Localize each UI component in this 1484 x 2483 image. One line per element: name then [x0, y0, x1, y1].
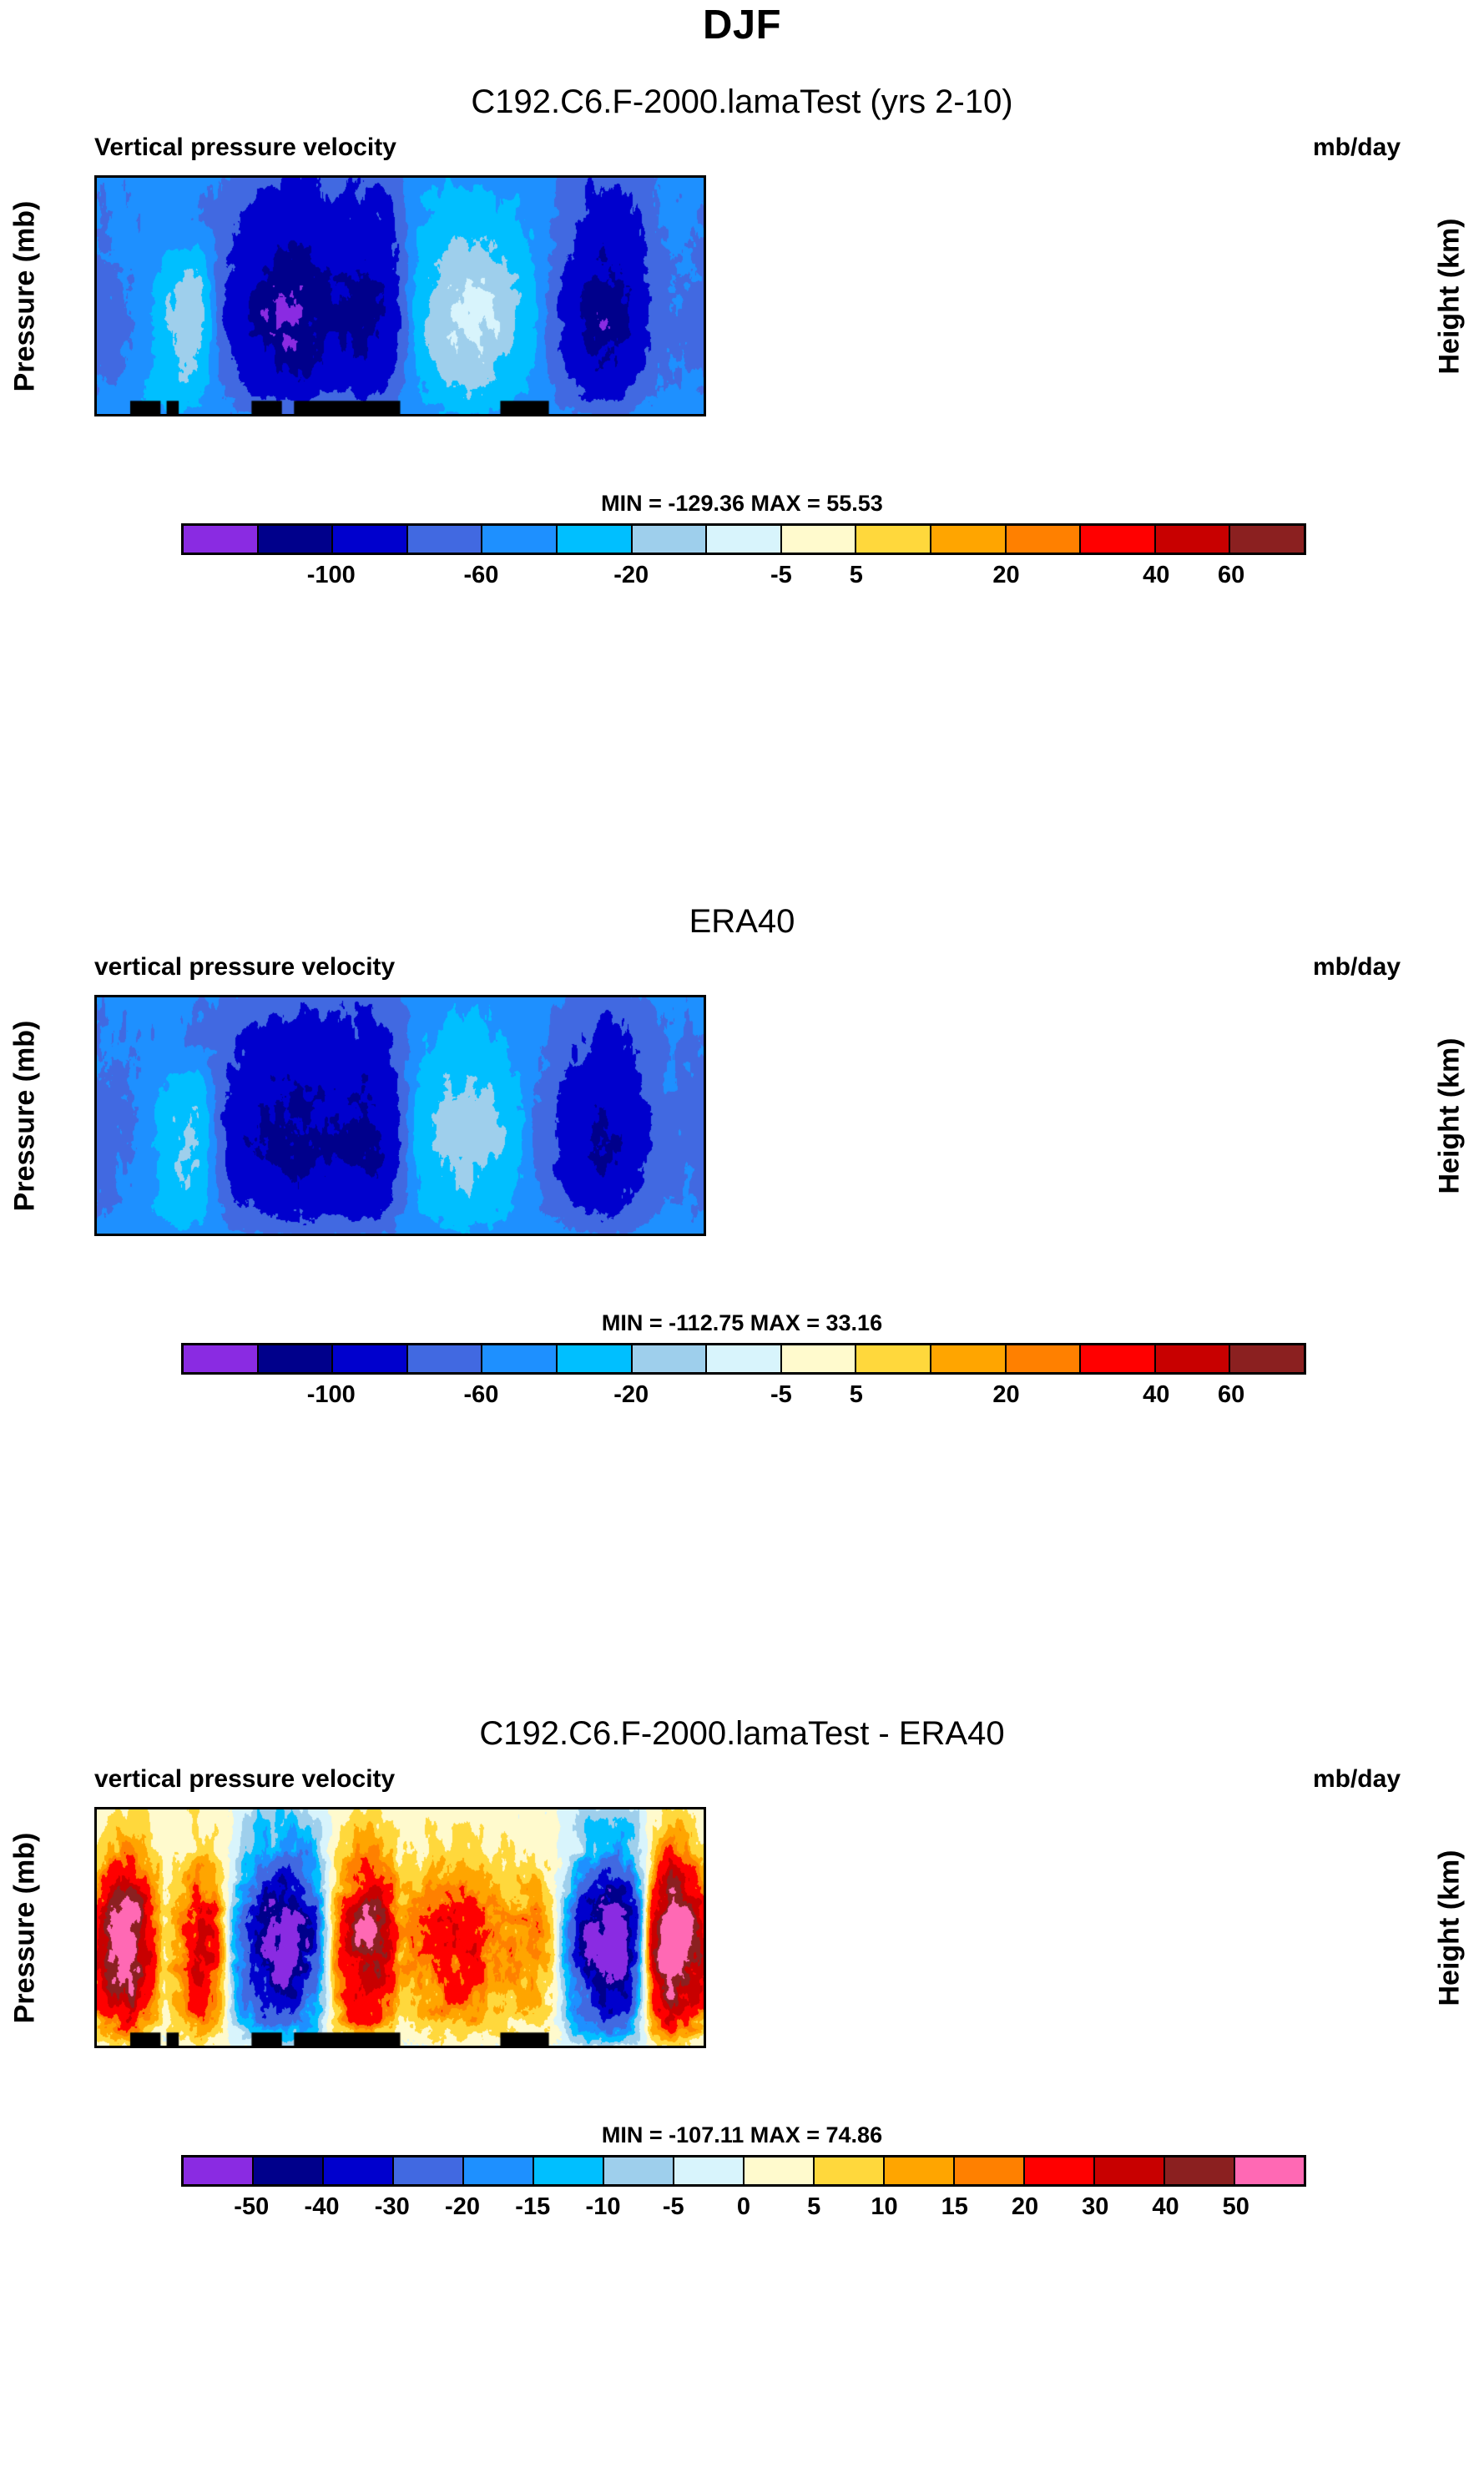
panel-subhead: vertical pressure velocity mb/day: [0, 953, 1484, 987]
y-tick-mark: [94, 1880, 97, 1883]
y-tick-mark: [94, 2046, 97, 2048]
x-minor-tick-mark: [350, 1234, 352, 1236]
colorbar-swatch: [259, 526, 334, 553]
x-tick-mark: [603, 1807, 605, 1809]
colorbar-swatch: [1165, 2157, 1235, 2184]
y2-tick-mark: [704, 1991, 706, 1994]
colorbar-swatch: [1230, 1345, 1304, 1372]
colorbar-tick-label: -100: [307, 562, 356, 589]
contour-canvas: [97, 178, 704, 414]
colorbar-tick-label: -5: [663, 2193, 684, 2221]
colorbar-tick-label: -60: [463, 562, 498, 589]
x-minor-tick-mark: [451, 414, 453, 416]
y-tick-mark: [94, 1951, 97, 1954]
y-tick-mark: [94, 220, 97, 222]
x-minor-tick-mark: [653, 175, 655, 178]
colorbar-swatch: [558, 526, 633, 553]
colorbar-swatch: [745, 2157, 815, 2184]
x-minor-tick-mark: [249, 175, 251, 178]
y2-tick-mark: [704, 198, 706, 200]
colorbar-swatch: [408, 526, 483, 553]
colorbar: -50-40-30-20-15-10-505101520304050: [0, 2155, 1484, 2223]
x-tick-mark: [502, 1807, 504, 1809]
x-tick-mark: [603, 2046, 605, 2048]
colorbar-tick-labels: -50-40-30-20-15-10-505101520304050: [181, 2187, 1306, 2223]
y-tick-mark: [94, 178, 97, 180]
y2-tick-mark: [704, 252, 706, 255]
y2-tick-mark: [704, 1126, 706, 1128]
x-tick-mark: [299, 995, 301, 997]
colorbar-swatch: [1081, 526, 1156, 553]
colorbar: -100-60-20-55204060: [0, 523, 1484, 592]
x-minor-tick-mark: [249, 1807, 251, 1809]
x-tick-mark: [299, 175, 301, 178]
x-tick-mark: [97, 995, 99, 997]
x-minor-tick-mark: [451, 1807, 453, 1809]
x-tick-mark: [502, 2046, 504, 2048]
x-tick-mark: [97, 2046, 99, 2048]
x-minor-tick-mark: [653, 2046, 655, 2048]
minmax-annotation: MIN = -107.11 MAX = 74.86: [0, 2122, 1484, 2148]
colorbar-swatch: [856, 1345, 931, 1372]
colorbar-tick-label: 20: [992, 1381, 1019, 1409]
y-tick-mark: [94, 1809, 97, 1812]
x-minor-tick-mark: [148, 1234, 150, 1236]
colorbar-swatch: [885, 2157, 955, 2184]
panel-title: ERA40: [0, 903, 1484, 941]
y-tick-mark: [94, 249, 97, 251]
y-axis-title-height: Height (km): [1431, 1807, 1468, 2048]
y-tick-mark: [94, 1163, 97, 1165]
colorbar-swatch: [482, 526, 558, 553]
colorbar-swatch: [333, 526, 408, 553]
x-tick-mark: [198, 414, 200, 416]
y-tick-mark: [94, 377, 97, 380]
colorbar-tick-label: -20: [445, 2193, 480, 2221]
colorbar-tick-label: 60: [1218, 562, 1244, 589]
colorbar-tick-label: -20: [613, 562, 649, 589]
colorbar-swatch: [254, 2157, 324, 2184]
colorbar-swatch: [707, 526, 782, 553]
colorbar-tick-label: -50: [234, 2193, 269, 2221]
colorbar-tick-label: 60: [1218, 1381, 1244, 1409]
x-tick-mark: [198, 1234, 200, 1236]
x-minor-tick-mark: [148, 2046, 150, 2048]
colorbar-swatch: [931, 526, 1007, 553]
colorbar-swatch: [1025, 2157, 1095, 2184]
x-tick-mark: [198, 1807, 200, 1809]
colorbar-tick-label: -15: [515, 2193, 550, 2221]
panel-title: C192.C6.F-2000.lamaTest - ERA40: [0, 1715, 1484, 1753]
colorbar-swatch: [782, 526, 857, 553]
colorbar-swatch: [482, 1345, 558, 1372]
colorbar-swatch: [1007, 1345, 1082, 1372]
x-minor-tick-mark: [653, 1234, 655, 1236]
y2-tick-mark: [704, 1072, 706, 1074]
y-tick-mark: [94, 1851, 97, 1854]
colorbar-tick-label: -60: [463, 1381, 498, 1409]
colorbar-swatch: [1235, 2157, 1304, 2184]
colorbar-swatch: [1156, 526, 1231, 553]
y2-tick-mark: [704, 360, 706, 362]
x-tick-mark: [299, 1234, 301, 1236]
colorbar-tick-label: 0: [737, 2193, 750, 2221]
x-tick-mark: [198, 2046, 200, 2048]
colorbar-tick-label: -20: [613, 1381, 649, 1409]
y-tick-mark: [94, 1904, 97, 1906]
y2-tick-mark: [704, 1829, 706, 1832]
colorbar-swatch: [1095, 2157, 1165, 2184]
x-tick-mark: [603, 1234, 605, 1236]
x-minor-tick-mark: [552, 2046, 554, 2048]
y-tick-mark: [94, 290, 97, 293]
x-tick-mark: [299, 1807, 301, 1809]
y-tick-mark: [94, 1234, 97, 1236]
colorbar-swatch: [333, 1345, 408, 1372]
colorbar-tick-label: 40: [1152, 2193, 1179, 2221]
colorbar-swatch: [1081, 1345, 1156, 1372]
colorbar-tick-label: 40: [1143, 1381, 1169, 1409]
colorbar-swatch: [955, 2157, 1025, 2184]
colorbar-swatch: [604, 2157, 674, 2184]
x-tick-mark: [401, 2046, 403, 2048]
colorbar-swatch: [815, 2157, 885, 2184]
y-tick-mark: [94, 1092, 97, 1094]
x-tick-mark: [603, 414, 605, 416]
y-tick-mark: [94, 1217, 97, 1219]
y-tick-mark: [94, 1139, 97, 1142]
y2-tick-mark: [704, 1938, 706, 1940]
colorbar-swatch: [184, 2157, 254, 2184]
x-minor-tick-mark: [148, 175, 150, 178]
y-tick-mark: [94, 2029, 97, 2031]
x-minor-tick-mark: [148, 995, 150, 997]
y-tick-mark: [94, 1197, 97, 1199]
colorbar-tick-label: 10: [871, 2193, 897, 2221]
colorbar-swatch: [408, 1345, 483, 1372]
colorbar-tick-label: 50: [1223, 2193, 1249, 2221]
y-tick-mark: [94, 1068, 97, 1071]
y-tick-mark: [94, 1039, 97, 1042]
x-tick-mark: [97, 175, 99, 178]
x-tick-mark: [97, 414, 99, 416]
y-axis-title-pressure: Pressure (mb): [8, 1807, 42, 2048]
y-tick-mark: [94, 1922, 97, 1925]
colorbar-swatch: [1156, 1345, 1231, 1372]
colorbar-swatch: [184, 1345, 259, 1372]
x-minor-tick-mark: [249, 2046, 251, 2048]
x-minor-tick-mark: [350, 2046, 352, 2048]
y2-tick-mark: [704, 1017, 706, 1020]
panel-subhead: vertical pressure velocity mb/day: [0, 1765, 1484, 1799]
y-axis-title-height: Height (km): [1431, 995, 1468, 1236]
variable-label: vertical pressure velocity: [94, 1765, 395, 1794]
x-tick-mark: [401, 995, 403, 997]
colorbar-tick-labels: -100-60-20-55204060: [181, 1375, 1306, 1411]
x-minor-tick-mark: [552, 995, 554, 997]
x-tick-mark: [97, 1234, 99, 1236]
colorbar-swatch: [324, 2157, 394, 2184]
y-tick-mark: [94, 1110, 97, 1113]
units-label: mb/day: [1313, 134, 1401, 162]
colorbar-swatch: [856, 526, 931, 553]
x-tick-mark: [401, 414, 403, 416]
colorbar-swatch: [184, 526, 259, 553]
colorbar-swatch: [782, 1345, 857, 1372]
x-minor-tick-mark: [249, 414, 251, 416]
colorbar-swatch: [674, 2157, 745, 2184]
x-tick-mark: [198, 995, 200, 997]
colorbar-swatch: [394, 2157, 464, 2184]
colorbar-tick-label: 30: [1082, 2193, 1108, 2221]
colorbar-cells: [181, 2155, 1306, 2187]
colorbar-swatch: [558, 1345, 633, 1372]
y-axis-title-height: Height (km): [1431, 175, 1468, 416]
y-tick-mark: [94, 343, 97, 346]
x-minor-tick-mark: [249, 1234, 251, 1236]
colorbar-swatch: [1230, 526, 1304, 553]
x-tick-mark: [401, 1807, 403, 1809]
x-tick-mark: [198, 175, 200, 178]
x-minor-tick-mark: [249, 995, 251, 997]
y2-tick-mark: [704, 1884, 706, 1886]
x-minor-tick-mark: [552, 414, 554, 416]
colorbar-tick-label: 5: [850, 562, 863, 589]
contour-plot-area: 1001502002503004005007008501000161284060…: [94, 995, 706, 1236]
y2-tick-mark: [704, 306, 706, 309]
y-tick-mark: [94, 2009, 97, 2011]
colorbar-tick-label: 20: [992, 562, 1019, 589]
colorbar-swatch: [1007, 526, 1082, 553]
x-minor-tick-mark: [552, 175, 554, 178]
contour-canvas: [97, 997, 704, 1234]
colorbar: -100-60-20-55204060: [0, 1343, 1484, 1411]
colorbar-tick-label: 20: [1012, 2193, 1038, 2221]
y-tick-mark: [94, 320, 97, 322]
contour-plot-area: 1001502002503004005007008501000161284060…: [94, 1807, 706, 2048]
x-tick-mark: [603, 995, 605, 997]
colorbar-swatch: [464, 2157, 534, 2184]
colorbar-tick-label: -40: [305, 2193, 340, 2221]
colorbar-tick-label: -30: [375, 2193, 410, 2221]
colorbar-tick-labels: -100-60-20-55204060: [181, 555, 1306, 592]
minmax-annotation: MIN = -112.75 MAX = 33.16: [0, 1310, 1484, 1336]
x-minor-tick-mark: [552, 1234, 554, 1236]
x-tick-mark: [299, 2046, 301, 2048]
x-minor-tick-mark: [653, 995, 655, 997]
x-tick-mark: [603, 175, 605, 178]
x-tick-mark: [502, 414, 504, 416]
x-minor-tick-mark: [350, 414, 352, 416]
colorbar-swatch: [707, 1345, 782, 1372]
units-label: mb/day: [1313, 1765, 1401, 1794]
y-tick-mark: [94, 272, 97, 275]
x-tick-mark: [502, 995, 504, 997]
contour-plot-area: 1001502002503004005007008501000161284060…: [94, 175, 706, 416]
x-minor-tick-mark: [451, 995, 453, 997]
x-minor-tick-mark: [350, 995, 352, 997]
contour-canvas: [97, 1809, 704, 2046]
x-minor-tick-mark: [350, 175, 352, 178]
x-minor-tick-mark: [148, 1807, 150, 1809]
panel-title: C192.C6.F-2000.lamaTest (yrs 2-10): [0, 83, 1484, 121]
colorbar-tick-label: 15: [941, 2193, 968, 2221]
y-tick-mark: [94, 414, 97, 416]
y-axis-title-pressure: Pressure (mb): [8, 995, 42, 1236]
colorbar-tick-label: -100: [307, 1381, 356, 1409]
y-tick-mark: [94, 397, 97, 400]
colorbar-tick-label: 5: [807, 2193, 820, 2221]
colorbar-tick-label: 5: [850, 1381, 863, 1409]
x-tick-mark: [97, 1807, 99, 1809]
figure-season-title: DJF: [0, 2, 1484, 48]
colorbar-swatch: [931, 1345, 1007, 1372]
variable-label: Vertical pressure velocity: [94, 134, 396, 162]
colorbar-swatch: [633, 526, 708, 553]
x-tick-mark: [401, 175, 403, 178]
x-tick-mark: [502, 175, 504, 178]
x-minor-tick-mark: [653, 1807, 655, 1809]
y-tick-mark: [94, 1975, 97, 1977]
colorbar-swatch: [633, 1345, 708, 1372]
x-tick-mark: [502, 1234, 504, 1236]
units-label: mb/day: [1313, 953, 1401, 982]
x-minor-tick-mark: [552, 1807, 554, 1809]
y-axis-title-pressure: Pressure (mb): [8, 175, 42, 416]
x-minor-tick-mark: [148, 414, 150, 416]
y2-tick-mark: [704, 1179, 706, 1182]
x-tick-mark: [299, 414, 301, 416]
panel-subhead: Vertical pressure velocity mb/day: [0, 134, 1484, 167]
x-minor-tick-mark: [350, 1807, 352, 1809]
x-minor-tick-mark: [451, 175, 453, 178]
colorbar-cells: [181, 523, 1306, 555]
x-minor-tick-mark: [451, 1234, 453, 1236]
x-minor-tick-mark: [653, 414, 655, 416]
colorbar-tick-label: -10: [586, 2193, 621, 2221]
colorbar-swatch: [534, 2157, 604, 2184]
variable-label: vertical pressure velocity: [94, 953, 395, 982]
colorbar-cells: [181, 1343, 1306, 1375]
y-tick-mark: [94, 997, 97, 1000]
colorbar-swatch: [259, 1345, 334, 1372]
colorbar-tick-label: -5: [770, 562, 792, 589]
minmax-annotation: MIN = -129.36 MAX = 55.53: [0, 491, 1484, 517]
colorbar-tick-label: 40: [1143, 562, 1169, 589]
x-minor-tick-mark: [451, 2046, 453, 2048]
colorbar-tick-label: -5: [770, 1381, 792, 1409]
x-tick-mark: [401, 1234, 403, 1236]
